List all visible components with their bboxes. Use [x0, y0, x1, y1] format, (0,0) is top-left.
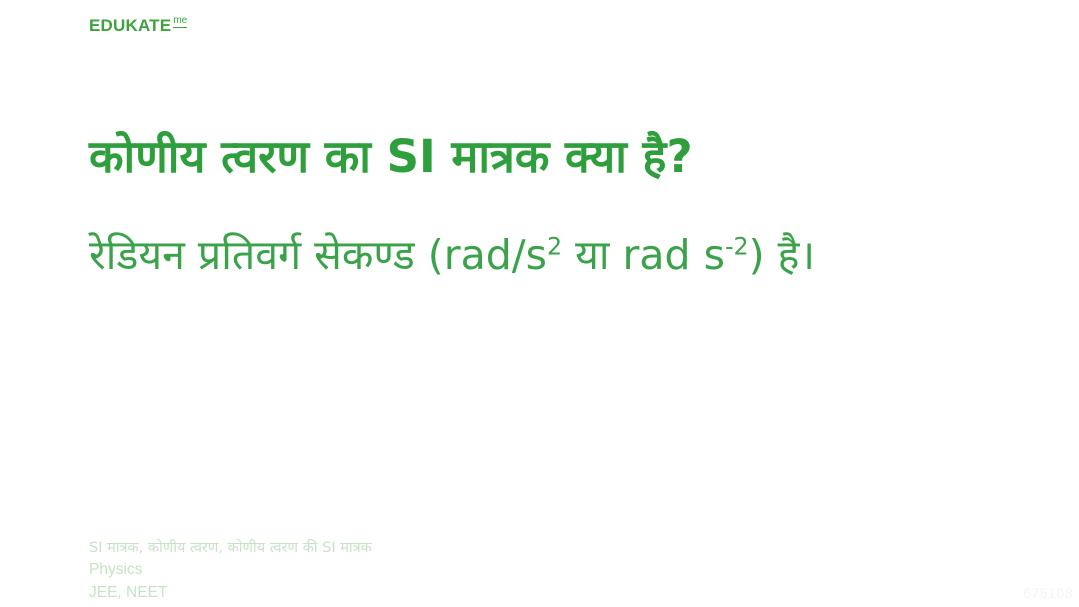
footer-meta: SI मात्रक, कोणीय त्वरण, कोणीय त्वरण की S… [89, 541, 372, 601]
answer-prefix: रेडियन प्रतिवर्ग सेकण्ड (rad/s [89, 231, 547, 279]
footer-tags: SI मात्रक, कोणीय त्वरण, कोणीय त्वरण की S… [89, 541, 372, 563]
brand-logo-word: EDUKATE [89, 17, 171, 34]
answer-exponent-first: 2 [547, 232, 562, 260]
footer-exams: JEE, NEET [89, 585, 372, 601]
brand-logo-suffix: me [173, 16, 187, 28]
corner-id: 675108 [1023, 585, 1073, 601]
footer-subject: Physics [89, 562, 372, 585]
question-text: कोणीय त्वरण का SI मात्रक क्या है? [89, 130, 1059, 183]
answer-middle: या rad s [562, 231, 725, 279]
answer-text: रेडियन प्रतिवर्ग सेकण्ड (rad/s2 या rad s… [89, 183, 1059, 280]
answer-exponent-second: -2 [725, 232, 749, 260]
answer-suffix: ) है। [749, 231, 815, 279]
slide-content: कोणीय त्वरण का SI मात्रक क्या है? रेडियन… [89, 130, 1059, 280]
brand-logo[interactable]: EDUKATE me [89, 17, 187, 34]
